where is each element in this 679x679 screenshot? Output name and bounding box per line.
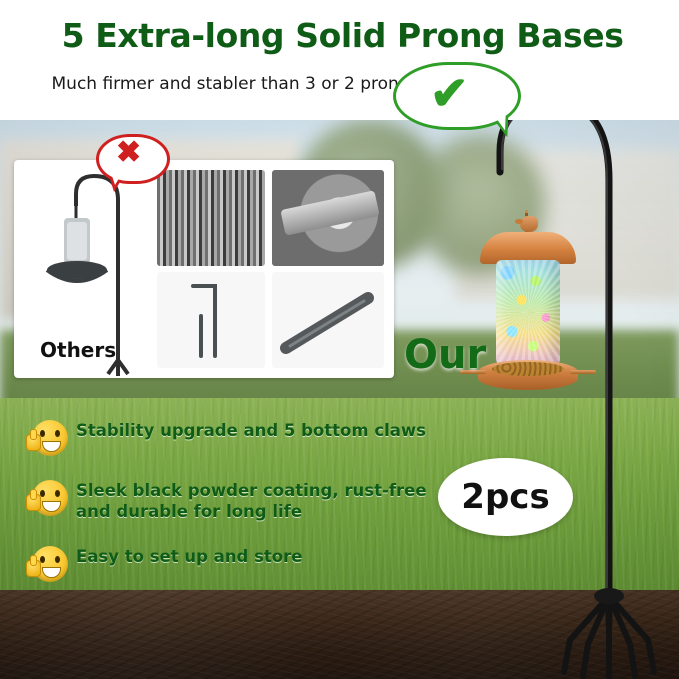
- feature-item-3: Easy to set up and store: [32, 546, 302, 582]
- photo-cell-broken-rod: [272, 170, 384, 266]
- photo-cell-wire-bundle: [157, 170, 265, 266]
- feeder-seed: [492, 362, 564, 376]
- feature-text-3: Easy to set up and store: [76, 546, 302, 567]
- photo-cell-two-prong: [157, 272, 265, 368]
- thumbs-up-emoji-icon: [32, 480, 68, 516]
- feature-item-1: Stability upgrade and 5 bottom claws: [32, 420, 426, 456]
- feature-text-2-line2: and durable for long life: [76, 501, 427, 522]
- others-comparison-card: Others: [14, 160, 394, 378]
- two-prong-icon: [157, 272, 265, 368]
- subtitle: Much firmer and stabler than 3 or 2 pron…: [20, 74, 450, 94]
- our-label: Our: [404, 332, 486, 378]
- bird-feeder: [476, 210, 580, 400]
- bird-finial-icon: [520, 216, 538, 232]
- x-icon: ✖: [116, 138, 141, 168]
- product-infographic: 5 Extra-long Solid Prong Bases Much firm…: [0, 0, 679, 679]
- page-title: 5 Extra-long Solid Prong Bases: [20, 16, 665, 55]
- check-bubble-tail-fill: [491, 109, 508, 131]
- thumbs-up-emoji-icon: [32, 420, 68, 456]
- others-label: Others: [40, 338, 116, 362]
- quantity-badge: 2pcs: [438, 458, 573, 536]
- photo-cell-plain-rod: [272, 272, 384, 368]
- feature-text-2-line1: Sleek black powder coating, rust-free: [76, 480, 427, 501]
- plain-rod-icon: [272, 272, 384, 368]
- quantity-badge-label: 2pcs: [461, 477, 549, 517]
- thumbs-up-emoji-icon: [32, 546, 68, 582]
- check-icon: ✔: [430, 70, 469, 116]
- feature-text-1: Stability upgrade and 5 bottom claws: [76, 420, 426, 441]
- feature-item-2: Sleek black powder coating, rust-free an…: [32, 480, 427, 522]
- x-bubble-tail-fill: [110, 170, 124, 185]
- feeder-mosaic-texture: [496, 260, 560, 365]
- feeder-perch-right: [570, 370, 596, 374]
